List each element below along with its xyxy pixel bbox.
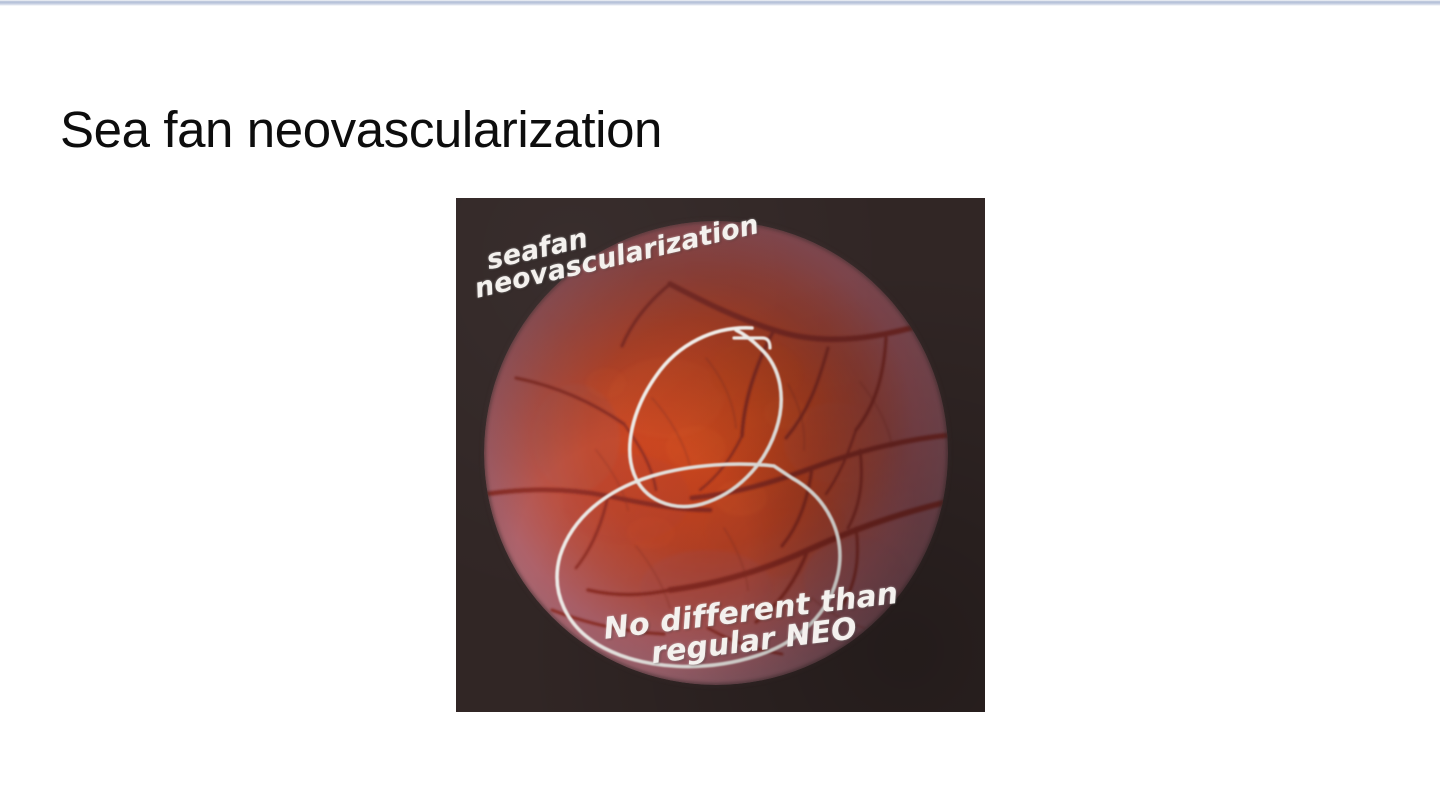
fundus-photo-image[interactable]: seafan neovascularization No different t… (456, 198, 985, 712)
slide-top-accent-band (0, 0, 1440, 6)
fundus-photo-graphic (456, 198, 985, 712)
page-title: Sea fan neovascularization (60, 100, 662, 160)
slide-canvas: Sea fan neovascularization (0, 0, 1440, 809)
